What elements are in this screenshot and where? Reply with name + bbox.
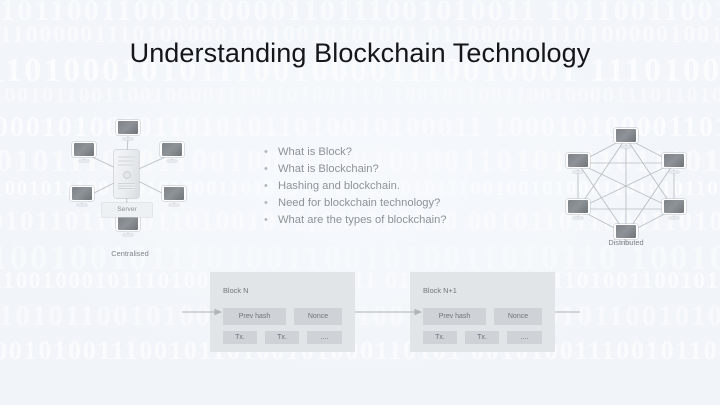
monitor-base: [123, 138, 133, 140]
list-item: • Need for blockchain technology?: [264, 195, 504, 212]
monitor-base: [167, 160, 177, 162]
centralised-node-upper-right: [160, 142, 184, 162]
monitor-screen: [568, 200, 589, 212]
centralised-node-bottom: [116, 216, 140, 236]
monitor-screen: [162, 143, 183, 155]
bullet-dot-icon: •: [264, 144, 278, 161]
bullet-dot-icon: •: [264, 161, 278, 178]
monitor-screen: [664, 200, 685, 212]
monitor-base: [669, 217, 679, 219]
centralised-node-lower-left: [70, 186, 94, 206]
monitor-screen: [74, 143, 95, 155]
server-slot: [118, 160, 135, 162]
server-slot: [118, 164, 135, 166]
bullet-dot-icon: •: [264, 178, 278, 195]
monitor-base: [77, 204, 87, 206]
server-grill: [118, 183, 135, 190]
distributed-node-upper-left: [566, 153, 590, 173]
chain-arrow-lines: [0, 262, 720, 362]
distributed-network-diagram: Distributed: [556, 116, 696, 256]
list-item-label: What is Block?: [278, 144, 352, 161]
centralised-network-diagram: Server Centralised: [62, 116, 198, 264]
list-item: • Hashing and blockchain.: [264, 178, 504, 195]
monitor-screen: [664, 154, 685, 166]
blockchain-diagram: Block N Prev hash Nonce Tx. Tx. .... Blo…: [0, 262, 720, 362]
distributed-node-lower-right: [662, 199, 686, 219]
server-power-dial: [124, 172, 130, 178]
monitor-base: [169, 204, 179, 206]
centralised-caption: Centralised: [62, 249, 198, 258]
page-title: Understanding Blockchain Technology: [0, 38, 720, 69]
server-tower-icon: [114, 150, 139, 198]
server-label: Server: [102, 203, 152, 217]
distributed-caption: Distributed: [556, 238, 696, 247]
bullet-dot-icon: •: [264, 195, 278, 212]
bullet-list: • What is Block? • What is Blockchain? •…: [264, 144, 504, 229]
monitor-base: [573, 217, 583, 219]
list-item: • What is Block?: [264, 144, 504, 161]
centralised-node-lower-right: [162, 186, 186, 206]
binary-background-row: 10110011001010000110111001010011 1011001…: [0, 0, 720, 28]
list-item-label: What are the types of blockchain?: [278, 212, 447, 229]
slide-canvas: 10110011001010000110111001010011 1011001…: [0, 0, 720, 405]
list-item-label: What is Blockchain?: [278, 161, 379, 178]
list-item: • What is Blockchain?: [264, 161, 504, 178]
monitor-base: [621, 146, 631, 148]
monitor-base: [123, 234, 133, 236]
centralised-node-upper-left: [72, 142, 96, 162]
bullet-dot-icon: •: [264, 212, 278, 229]
list-item: • What are the types of blockchain?: [264, 212, 504, 229]
monitor-screen: [72, 187, 93, 199]
monitor-screen: [616, 225, 637, 237]
monitor-screen: [118, 217, 139, 229]
list-item-label: Hashing and blockchain.: [278, 178, 400, 195]
monitor-base: [669, 171, 679, 173]
distributed-node-top: [614, 128, 638, 148]
distributed-node-lower-left: [566, 199, 590, 219]
monitor-base: [573, 171, 583, 173]
monitor-base: [79, 160, 89, 162]
distributed-node-upper-right: [662, 153, 686, 173]
monitor-screen: [118, 121, 139, 133]
monitor-screen: [616, 129, 637, 141]
monitor-screen: [164, 187, 185, 199]
centralised-node-top: [116, 120, 140, 140]
server-slot: [118, 156, 135, 158]
binary-background-row: 10010110011001000011101101001110 1001011…: [0, 82, 720, 108]
list-item-label: Need for blockchain technology?: [278, 195, 440, 212]
monitor-screen: [568, 154, 589, 166]
